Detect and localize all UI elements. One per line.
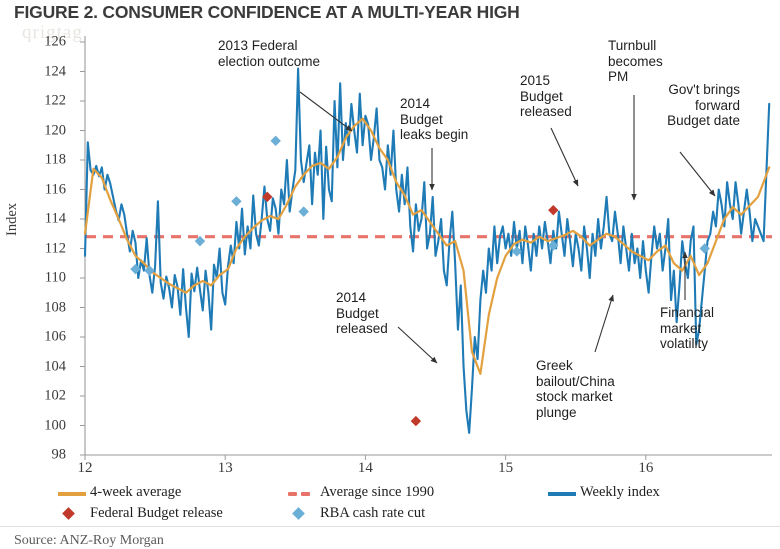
marker-federal-budget-release (548, 205, 558, 215)
ann-2013-election: 2013 Federal election outcome (218, 38, 398, 69)
marker-rba-cash-rate-cut (270, 136, 280, 146)
footer-divider (0, 526, 780, 527)
legend-label: Weekly index (580, 484, 660, 501)
legend-label: Average since 1990 (320, 484, 434, 501)
ann-fin-volatility: Financial market volatility (660, 305, 760, 352)
ann-2015-budget: 2015 Budget released (520, 73, 610, 120)
legend-label: RBA cash rate cut (320, 505, 425, 522)
figure-root: FIGURE 2. CONSUMER CONFIDENCE AT A MULTI… (0, 0, 780, 549)
source-note: Source: ANZ-Roy Morgan (14, 533, 164, 549)
ann-2014-budget: 2014 Budget released (336, 290, 426, 337)
marker-rba-cash-rate-cut (144, 265, 154, 275)
marker-federal-budget-release (411, 416, 421, 426)
marker-rba-cash-rate-cut (299, 206, 309, 216)
marker-rba-cash-rate-cut (231, 196, 241, 206)
legend-label: Federal Budget release (90, 505, 223, 522)
ann-budget-forward: Gov't brings forward Budget date (600, 82, 740, 129)
arrow-greek-china (595, 295, 613, 352)
arrow-budget-forward (680, 152, 715, 196)
legend-label: 4-week average (90, 484, 181, 501)
legend-swatch-dashed (288, 492, 318, 496)
marker-rba-cash-rate-cut (700, 243, 710, 253)
ann-turnbull: Turnbull becomes PM (608, 38, 698, 85)
ann-greek-china: Greek bailout/China stock market plunge (536, 358, 646, 420)
arrow-2013-election (300, 92, 352, 131)
ann-2014-leaks: 2014 Budget leaks begin (400, 96, 510, 143)
legend-swatch-line (58, 492, 86, 496)
legend-swatch-line (548, 492, 576, 496)
arrow-2015-budget (551, 128, 578, 186)
